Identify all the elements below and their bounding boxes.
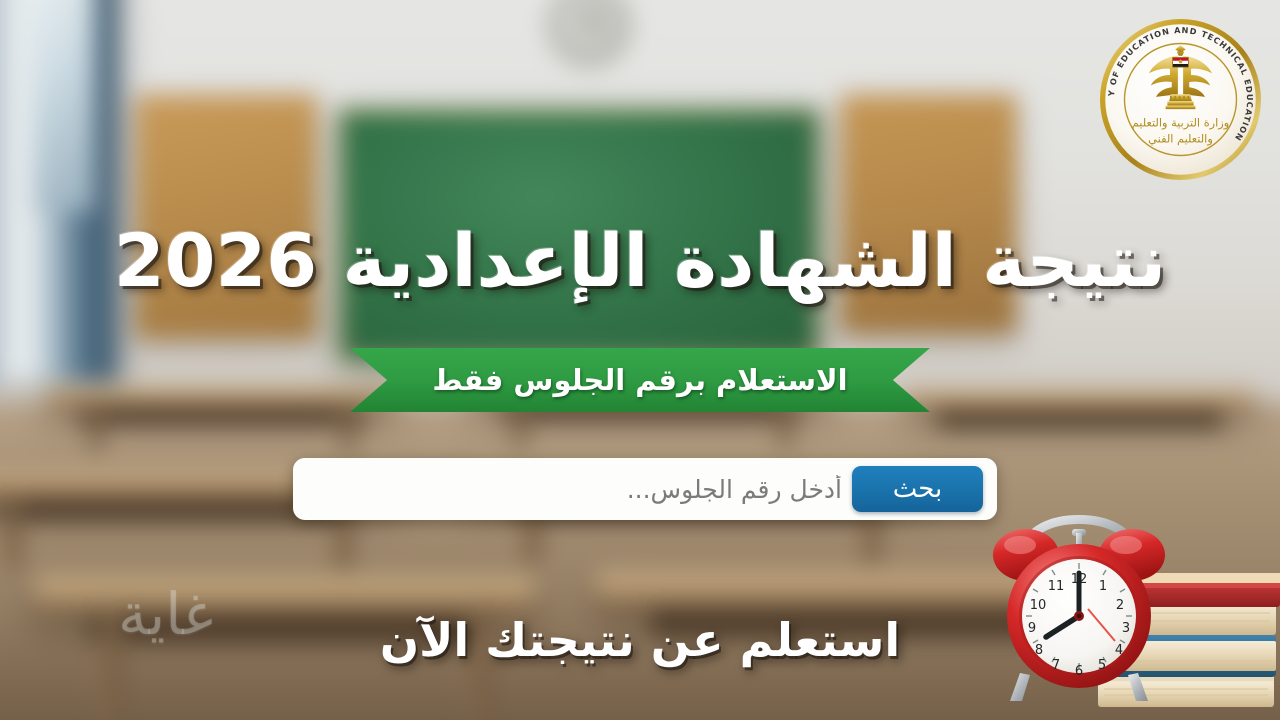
page-title: نتيجة الشهادة الإعدادية 2026: [0, 224, 1280, 301]
search-bar: بحث: [293, 458, 997, 520]
logo-arabic-line-1: وزارة التربية والتعليم: [1132, 116, 1230, 131]
desk-shadow: [78, 408, 364, 425]
logo-arabic-line-2: والتعليم الفني: [1148, 131, 1213, 146]
subtitle-ribbon: الاستعلام برقم الجلوس فقط: [350, 348, 930, 412]
desk-leg: [89, 402, 103, 451]
background-door: [0, 0, 118, 381]
background-floor: [0, 402, 1280, 720]
search-button[interactable]: بحث: [852, 466, 983, 512]
desk-row: [905, 390, 1255, 411]
desk-leg: [4, 494, 21, 568]
desk-row: [598, 572, 1096, 608]
seat-number-input[interactable]: [307, 467, 852, 511]
result-announcement-page: غاية: [0, 0, 1280, 720]
ribbon-label: الاستعلام برقم الجلوس فقط: [350, 348, 930, 412]
ministry-logo: MINISTRY OF EDUCATION AND TECHNICAL EDUC…: [1093, 12, 1268, 187]
cta-text: استعلم عن نتيجتك الآن: [0, 613, 1280, 667]
desk-shadow: [937, 411, 1223, 428]
background-door-glass: [34, 0, 95, 212]
